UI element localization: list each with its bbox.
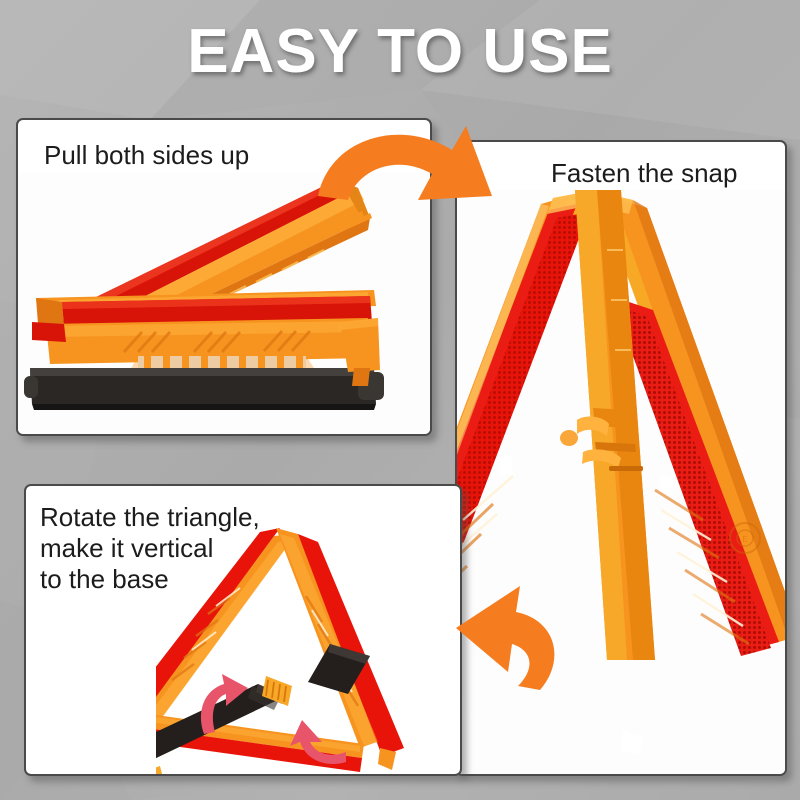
step-panel-1: Pull both sides up [16,118,432,436]
lower-arm [32,290,376,364]
panel-2-product-photo: E [457,190,785,774]
panel-1-caption: Pull both sides up [44,140,249,171]
svg-text:E: E [742,535,747,544]
panel-1-product-photo [18,172,430,434]
step-panel-3: Rotate the triangle, make it vertical to… [24,484,462,776]
panel-2-caption: Fasten the snap [551,158,737,189]
step-panel-2: Fasten the snap [455,140,787,776]
infographic-canvas: EASY TO USE Pull both sides up [0,0,800,800]
panel-3-product-photo [156,526,460,774]
page-title: EASY TO USE [0,14,800,90]
black-base [24,368,384,410]
